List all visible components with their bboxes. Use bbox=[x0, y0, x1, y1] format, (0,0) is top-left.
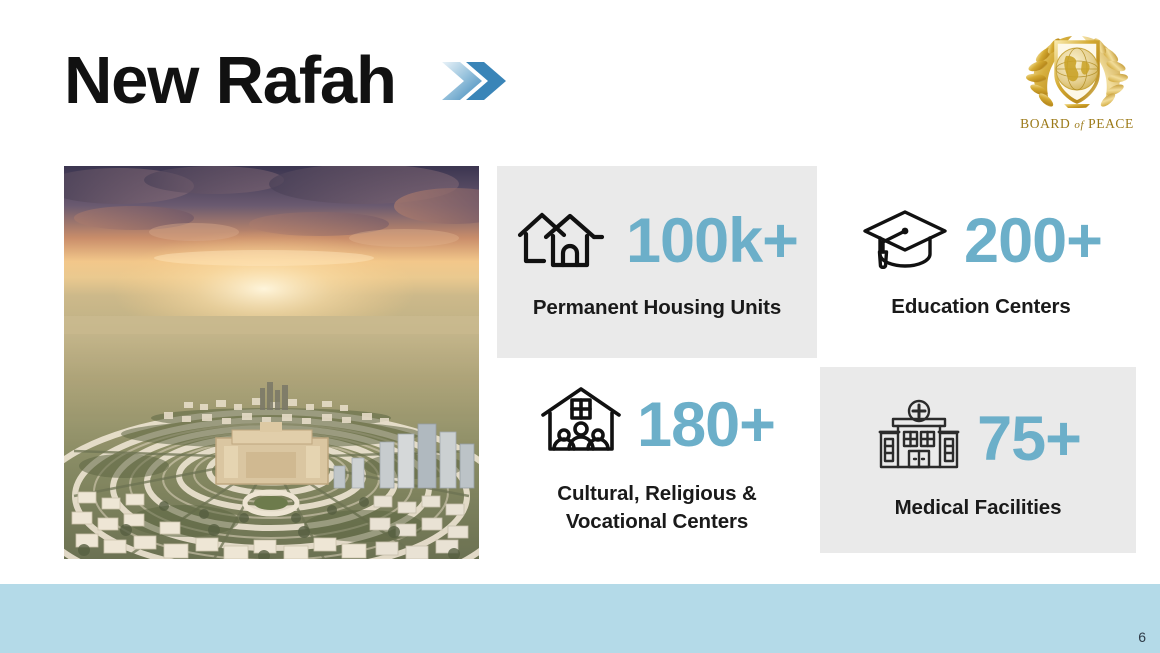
logo-word-peace: PEACE bbox=[1088, 116, 1134, 131]
title-row: New Rafah bbox=[64, 47, 510, 114]
board-of-peace-logo: BOARD of PEACE bbox=[1016, 22, 1138, 134]
stat-value: 200+ bbox=[964, 210, 1102, 273]
stat-value: 75+ bbox=[977, 408, 1081, 471]
graduation-cap-icon bbox=[860, 204, 950, 279]
stat-label: Permanent Housing Units bbox=[533, 294, 781, 321]
stat-top-row: 200+ bbox=[860, 204, 1102, 279]
logo-word-board: BOARD bbox=[1020, 116, 1070, 131]
aerial-city-rendering bbox=[64, 166, 479, 559]
community-center-icon bbox=[539, 385, 623, 466]
stat-top-row: 75+ bbox=[875, 399, 1081, 480]
stat-label: Medical Facilities bbox=[895, 494, 1062, 521]
logo-wordmark: BOARD of PEACE bbox=[1016, 116, 1138, 132]
stat-label: Education Centers bbox=[891, 293, 1070, 320]
page-title: New Rafah bbox=[64, 47, 396, 114]
stat-value: 180+ bbox=[637, 394, 775, 457]
hospital-building-icon bbox=[875, 399, 963, 480]
stat-card-medical-facilities: 75+ Medical Facilities bbox=[820, 367, 1136, 553]
stat-card-permanent-housing-units: 100k+ Permanent Housing Units bbox=[497, 166, 817, 358]
stat-top-row: 180+ bbox=[539, 385, 775, 466]
stat-label: Cultural, Religious & Vocational Centers bbox=[557, 480, 757, 534]
stat-card-education-centers: 200+ Education Centers bbox=[822, 166, 1140, 358]
stat-top-row: 100k+ bbox=[516, 203, 798, 280]
bottom-color-band bbox=[0, 584, 1160, 653]
slide-canvas: New Rafah bbox=[0, 0, 1160, 653]
stat-card-cultural-religious-vocational-centers: 180+ Cultural, Religious & Vocational Ce… bbox=[497, 367, 817, 553]
two-houses-icon bbox=[516, 203, 612, 280]
double-chevron-right-icon bbox=[440, 56, 510, 111]
logo-word-of: of bbox=[1074, 119, 1084, 131]
page-number: 6 bbox=[1138, 629, 1146, 645]
stat-value: 100k+ bbox=[626, 210, 798, 273]
